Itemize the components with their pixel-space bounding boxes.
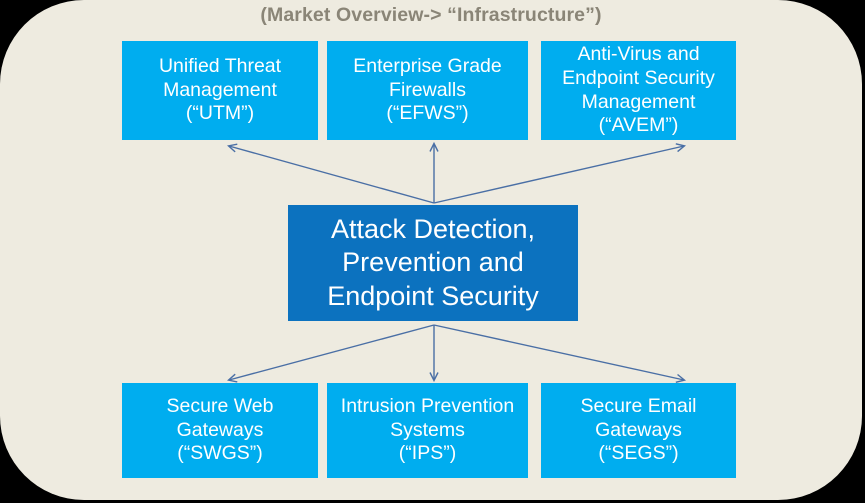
node-secure-web-gateways[interactable]: Secure Web Gateways (“SWGS”): [122, 383, 318, 478]
node-abbreviation: (“SWGS”): [177, 442, 263, 466]
node-label-line: Firewalls: [389, 79, 466, 103]
node-label-line: Systems: [390, 419, 465, 443]
diagram-canvas: (Market Overview-> “Infrastructure”) Uni…: [0, 0, 865, 503]
connector-hub-to-swgs: [229, 325, 434, 380]
node-secure-email-gateways[interactable]: Secure Email Gateways (“SEGS”): [541, 383, 736, 478]
diagram-title: (Market Overview-> “Infrastructure”): [0, 4, 862, 27]
node-abbreviation: (“UTM”): [186, 102, 254, 126]
node-label-line: Secure Web: [167, 395, 274, 419]
hub-label-line: Prevention and: [342, 246, 524, 279]
node-anti-virus-endpoint-security-management[interactable]: Anti-Virus and Endpoint Security Managem…: [541, 41, 736, 140]
node-label-line: Intrusion Prevention: [341, 395, 514, 419]
node-label-line: Management: [582, 91, 696, 115]
node-abbreviation: (“SEGS”): [598, 442, 678, 466]
node-label-line: Gateways: [595, 419, 682, 443]
node-label-line: Endpoint Security: [562, 67, 715, 91]
node-abbreviation: (“IPS”): [399, 442, 456, 466]
node-enterprise-grade-firewalls[interactable]: Enterprise Grade Firewalls (“EFWS”): [327, 41, 528, 140]
node-abbreviation: (“AVEM”): [599, 114, 679, 138]
connector-hub-to-segs: [434, 325, 684, 380]
node-intrusion-prevention-systems[interactable]: Intrusion Prevention Systems (“IPS”): [327, 383, 528, 478]
node-label-line: Enterprise Grade: [353, 55, 502, 79]
hub-label-line: Attack Detection,: [331, 213, 535, 246]
hub-label-line: Endpoint Security: [327, 280, 539, 313]
node-label-line: Anti-Virus and: [577, 43, 699, 67]
connector-hub-to-avem: [434, 146, 684, 203]
node-abbreviation: (“EFWS”): [386, 102, 468, 126]
node-unified-threat-management[interactable]: Unified Threat Management (“UTM”): [122, 41, 318, 140]
connector-hub-to-utm: [229, 146, 434, 203]
node-label-line: Unified Threat: [159, 55, 281, 79]
node-label-line: Management: [163, 79, 277, 103]
node-label-line: Gateways: [177, 419, 264, 443]
node-label-line: Secure Email: [581, 395, 697, 419]
node-attack-detection-prevention-endpoint-security[interactable]: Attack Detection, Prevention and Endpoin…: [288, 205, 578, 321]
diagram-panel: (Market Overview-> “Infrastructure”) Uni…: [0, 0, 862, 500]
